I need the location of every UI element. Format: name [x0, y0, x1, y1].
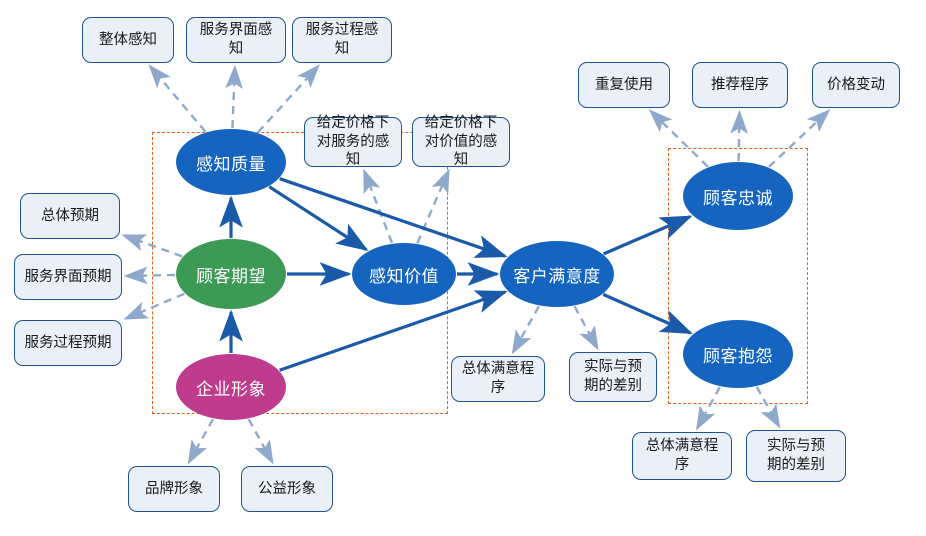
box-price-value-percept[interactable]: 给定价格下 对价值的感知: [412, 117, 510, 167]
ellipse-customer-loyalty[interactable]: 顾客忠诚: [683, 162, 793, 230]
box-overall-satisfaction-left[interactable]: 总体满意程序: [451, 356, 545, 402]
box-service-interface-percept[interactable]: 服务界面感知: [186, 17, 286, 63]
box-overall-satisfaction-right[interactable]: 总体满意程序: [632, 432, 732, 480]
ellipse-customer-expectation[interactable]: 顾客期望: [176, 239, 286, 309]
box-price-service-percept[interactable]: 给定价格下 对服务的感知: [304, 117, 402, 167]
box-label: 服务界面预期: [25, 268, 112, 287]
ellipse-label: 顾客抱怨: [703, 342, 773, 367]
box-referral-program[interactable]: 推荐程序: [692, 62, 788, 108]
box-overall-perception[interactable]: 整体感知: [82, 17, 174, 63]
box-repeat-use[interactable]: 重复使用: [578, 62, 670, 108]
box-label: 总体预期: [41, 207, 99, 226]
box-label: 服务界面感知: [193, 21, 279, 58]
box-label: 给定价格下 对价值的感知: [419, 114, 503, 170]
box-service-process-percept[interactable]: 服务过程感知: [292, 17, 392, 63]
box-overall-expectation[interactable]: 总体预期: [20, 193, 120, 239]
box-brand-image[interactable]: 品牌形象: [128, 466, 220, 512]
ellipse-label: 企业形象: [196, 375, 266, 400]
ellipse-label: 感知价值: [369, 262, 439, 287]
box-label: 实际与预 期的差别: [767, 437, 825, 474]
dashed-arrow-image-to-public-image: [249, 419, 272, 461]
box-actual-vs-expected-left[interactable]: 实际与预 期的差别: [569, 352, 657, 402]
ellipse-perceived-quality[interactable]: 感知质量: [176, 129, 286, 195]
box-service-process-expect[interactable]: 服务过程预期: [14, 320, 122, 366]
box-label: 服务过程感知: [299, 21, 385, 58]
box-label: 总体满意程序: [458, 360, 538, 397]
dashed-arrow-quality-to-interface-perception: [232, 68, 235, 128]
box-label: 推荐程序: [711, 76, 769, 95]
box-price-change[interactable]: 价格变动: [812, 62, 900, 108]
ellipse-label: 感知质量: [196, 150, 266, 175]
box-label: 公益形象: [258, 480, 316, 499]
box-public-welfare-image[interactable]: 公益形象: [241, 466, 333, 512]
dashed-arrow-quality-to-overall-perception: [151, 67, 206, 132]
box-label: 服务过程预期: [25, 334, 112, 353]
ellipse-perceived-value[interactable]: 感知价值: [352, 243, 456, 305]
box-label: 给定价格下 对服务的感知: [311, 114, 395, 170]
ellipse-customer-satisfaction[interactable]: 客户满意度: [500, 241, 614, 307]
box-label: 整体感知: [99, 31, 157, 50]
ellipse-label: 顾客忠诚: [703, 184, 773, 209]
ellipse-label: 客户满意度: [513, 262, 601, 287]
ellipse-customer-complaint[interactable]: 顾客抱怨: [683, 320, 793, 388]
dashed-arrow-image-to-brand-image: [189, 419, 213, 461]
ellipse-label: 顾客期望: [196, 262, 266, 287]
box-label: 实际与预 期的差别: [584, 358, 642, 395]
box-label: 重复使用: [595, 76, 653, 95]
box-label: 价格变动: [827, 76, 885, 95]
dashed-arrow-satisfaction-to-overall-satisfaction: [513, 306, 539, 351]
box-label: 总体满意程序: [639, 437, 725, 474]
box-service-interface-expect[interactable]: 服务界面预期: [14, 254, 122, 300]
dashed-arrow-satisfaction-to-actual-vs-expected: [575, 306, 597, 347]
diagram-canvas: 感知质量顾客期望企业形象感知价值客户满意度顾客忠诚顾客抱怨 整体感知服务界面感知…: [0, 0, 926, 536]
ellipse-corporate-image[interactable]: 企业形象: [176, 354, 286, 420]
box-label: 品牌形象: [145, 480, 203, 499]
box-actual-vs-expected-right[interactable]: 实际与预 期的差别: [746, 430, 846, 482]
